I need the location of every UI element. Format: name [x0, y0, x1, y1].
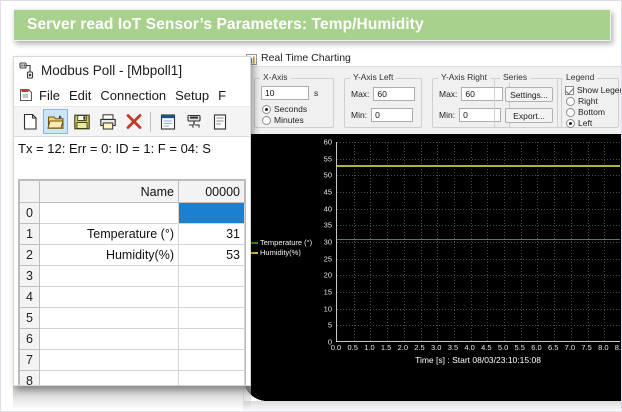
- table-row[interactable]: 8: [20, 371, 245, 386]
- x-axis-tick-label: 2.5: [414, 343, 424, 352]
- charting-window-body: X-Axis 10 s Seconds Minutes: [243, 66, 622, 401]
- y-axis-tick-label: 15: [324, 288, 332, 297]
- y-axis-tick-label: 50: [324, 171, 332, 180]
- chart-plot-box: [336, 142, 620, 342]
- charting-window-titlebar: Real Time Charting: [239, 49, 622, 66]
- table-corner-header: [20, 181, 40, 203]
- radio-indicator-minutes: [262, 116, 271, 125]
- horizontal-gridline: [337, 242, 620, 243]
- y-axis-tick-label: 55: [324, 154, 332, 163]
- slide-canvas: Server read IoT Sensor’s Parameters: Tem…: [0, 0, 622, 412]
- vertical-gridline: [370, 142, 371, 341]
- table-row[interactable]: 4: [20, 287, 245, 308]
- modbus-app-icon: [19, 61, 37, 79]
- x-axis-tick-label: 1.5: [381, 343, 391, 352]
- y-left-min-input[interactable]: 0: [371, 108, 413, 122]
- chart-y-axis-ticks: 051015202530354045505560: [310, 142, 332, 342]
- x-axis-tick-label: 8.0: [598, 343, 608, 352]
- x-axis-tick-label: 4.0: [464, 343, 474, 352]
- document-icon: [18, 87, 34, 103]
- legend-label-humidity: Humidity(%): [260, 248, 301, 257]
- radio-indicator-bottom: [566, 108, 575, 117]
- row-value[interactable]: [179, 308, 245, 329]
- legend-left-label: Left: [578, 118, 592, 128]
- row-name[interactable]: [40, 350, 179, 371]
- y-axis-tick-label: 30: [324, 238, 332, 247]
- series-line-temperature: [337, 239, 620, 240]
- x-axis-tick-label: 8.5: [615, 343, 622, 352]
- chart-x-axis-title: Time [s] : Start 08/03/23:10:15:08: [336, 355, 620, 365]
- row-index: 7: [20, 350, 40, 371]
- x-axis-tick-label: 2.0: [398, 343, 408, 352]
- save-disk-icon[interactable]: [69, 109, 94, 134]
- legend-right-label: Right: [578, 96, 598, 106]
- x-axis-tick-label: 0.5: [347, 343, 357, 352]
- vertical-gridline: [604, 142, 605, 341]
- menu-item-file[interactable]: File: [39, 88, 60, 103]
- row-index: 2: [20, 245, 40, 266]
- y-axis-tick-label: 5: [328, 321, 332, 330]
- y-left-max-input[interactable]: 60: [373, 87, 415, 101]
- vertical-gridline: [404, 142, 405, 341]
- charting-controls-strip: X-Axis 10 s Seconds Minutes: [244, 67, 622, 134]
- series-export-button[interactable]: Export...: [505, 108, 553, 123]
- table-row[interactable]: 0: [20, 203, 245, 224]
- vertical-gridline: [471, 142, 472, 341]
- row-value[interactable]: [179, 350, 245, 371]
- row-index: 4: [20, 287, 40, 308]
- checkbox-indicator-show-legend: [565, 86, 574, 95]
- read-write-icon[interactable]: [207, 109, 232, 134]
- x-axis-tick-label: 5.0: [498, 343, 508, 352]
- table-row[interactable]: 7: [20, 350, 245, 371]
- x-axis-unit-label: s: [314, 88, 318, 98]
- horizontal-gridline: [337, 159, 620, 160]
- row-value[interactable]: [179, 266, 245, 287]
- row-name[interactable]: [40, 203, 179, 224]
- chart-axes: 051015202530354045505560 0.00.51.01.52.0…: [310, 142, 620, 364]
- x-axis-tick-label: 0.0: [331, 343, 341, 352]
- y-axis-right-group-label: Y-Axis Right: [438, 72, 490, 82]
- legend-position-right-radio[interactable]: Right: [566, 96, 598, 106]
- print-icon[interactable]: [95, 109, 120, 134]
- horizontal-gridline: [337, 142, 620, 143]
- x-axis-tick-label: 7.0: [565, 343, 575, 352]
- horizontal-gridline: [337, 209, 620, 210]
- modbus-status-line: Tx = 12: Err = 0: ID = 1: F = 04: S: [14, 137, 250, 161]
- show-legend-checkbox[interactable]: Show Legend: [565, 85, 622, 95]
- y-axis-tick-label: 25: [324, 254, 332, 263]
- x-axis-tick-label: 5.5: [515, 343, 525, 352]
- y-axis-tick-label: 40: [324, 204, 332, 213]
- x-axis-seconds-label: Seconds: [274, 104, 307, 114]
- row-index: 0: [20, 203, 40, 224]
- horizontal-gridline: [337, 325, 620, 326]
- y-axis-tick-label: 45: [324, 188, 332, 197]
- y-left-min-label: Min:: [351, 110, 367, 120]
- modbus-data-grid[interactable]: Name 00000 0 1 Temperature (°) 31: [18, 179, 246, 385]
- slide-title-text: Server read IoT Sensor’s Parameters: Tem…: [14, 16, 424, 34]
- toolbar-separator: [150, 112, 151, 132]
- menu-item-edit[interactable]: Edit: [69, 88, 91, 103]
- open-folder-icon[interactable]: [43, 109, 68, 134]
- legend-entry-humidity: Humidity(%): [248, 248, 310, 257]
- vertical-gridline: [521, 142, 522, 341]
- row-index: 3: [20, 266, 40, 287]
- table-row[interactable]: 3: [20, 266, 245, 287]
- y-axis-left-group: Y-Axis Left Max: 60 Min: 0: [344, 78, 422, 128]
- legend-group: Legend Show Legend Right Bottom: [557, 78, 619, 128]
- horizontal-gridline: [337, 292, 620, 293]
- vertical-gridline: [554, 142, 555, 341]
- modbus-menubar: File Edit Connection Setup F: [14, 84, 250, 107]
- table-header-name: Name: [40, 181, 179, 203]
- row-name[interactable]: [40, 266, 179, 287]
- x-axis-tick-label: 1.0: [364, 343, 374, 352]
- x-axis-group: X-Axis 10 s Seconds Minutes: [254, 78, 334, 128]
- y-axis-tick-label: 35: [324, 221, 332, 230]
- slide-title-banner: Server read IoT Sensor’s Parameters: Tem…: [13, 9, 611, 41]
- menu-item-functions[interactable]: F: [218, 88, 226, 103]
- legend-position-left-radio[interactable]: Left: [566, 118, 592, 128]
- vertical-gridline: [387, 142, 388, 341]
- x-axis-minutes-radio[interactable]: Minutes: [262, 115, 304, 125]
- register-table: Name 00000 0 1 Temperature (°) 31: [19, 180, 245, 385]
- x-axis-duration-input[interactable]: 10: [261, 86, 309, 100]
- horizontal-gridline: [337, 225, 620, 226]
- horizontal-gridline: [337, 259, 620, 260]
- x-axis-seconds-radio[interactable]: Seconds: [262, 104, 307, 114]
- row-value-selected[interactable]: [179, 203, 245, 224]
- chart-x-axis-ticks: 0.00.51.01.52.02.53.03.54.04.55.05.56.06…: [336, 343, 622, 355]
- row-name[interactable]: [40, 371, 179, 386]
- row-name[interactable]: [40, 308, 179, 329]
- series-group: Series Settings... Export...: [494, 78, 562, 128]
- series-group-label: Series: [500, 72, 530, 82]
- radio-indicator-right: [566, 97, 575, 106]
- vertical-gridline: [504, 142, 505, 341]
- table-header-address: 00000: [179, 181, 245, 203]
- horizontal-gridline: [337, 175, 620, 176]
- horizontal-gridline: [337, 275, 620, 276]
- vertical-gridline: [537, 142, 538, 341]
- y-axis-tick-label: 60: [324, 138, 332, 147]
- new-file-icon[interactable]: [17, 109, 42, 134]
- vertical-gridline: [454, 142, 455, 341]
- row-name-humidity[interactable]: Humidity(%): [40, 245, 179, 266]
- vertical-gridline: [487, 142, 488, 341]
- menu-item-setup[interactable]: Setup: [175, 88, 209, 103]
- series-line-humidity: [337, 165, 620, 166]
- vertical-gridline: [421, 142, 422, 341]
- horizontal-gridline: [337, 192, 620, 193]
- row-index: 5: [20, 308, 40, 329]
- vertical-gridline: [437, 142, 438, 341]
- modbus-poll-window: Modbus Poll - [Mbpoll1] File Edit Connec…: [13, 56, 251, 386]
- row-index: 8: [20, 371, 40, 386]
- connect-icon[interactable]: [181, 109, 206, 134]
- modbus-titlebar: Modbus Poll - [Mbpoll1]: [14, 57, 250, 84]
- vertical-gridline: [354, 142, 355, 341]
- vertical-gridline: [571, 142, 572, 341]
- table-body: 0 1 Temperature (°) 31 2 Humidity(%) 53: [20, 203, 245, 386]
- legend-group-label: Legend: [563, 72, 597, 82]
- y-axis-left-group-label: Y-Axis Left: [350, 72, 396, 82]
- x-axis-tick-label: 3.0: [431, 343, 441, 352]
- modbus-window-reflection: [13, 386, 251, 410]
- row-name[interactable]: [40, 287, 179, 308]
- row-value-temperature[interactable]: 31: [179, 224, 245, 245]
- x-axis-minutes-label: Minutes: [274, 115, 304, 125]
- table-row[interactable]: 1 Temperature (°) 31: [20, 224, 245, 245]
- radio-indicator-left: [566, 119, 575, 128]
- charting-window-title: Real Time Charting: [261, 52, 351, 64]
- delete-x-icon[interactable]: [121, 109, 146, 134]
- x-axis-tick-label: 3.5: [448, 343, 458, 352]
- row-index: 6: [20, 329, 40, 350]
- y-right-min-label: Min:: [439, 110, 455, 120]
- table-row[interactable]: 5: [20, 308, 245, 329]
- modbus-toolbar: [14, 107, 250, 137]
- radio-indicator-seconds: [262, 105, 271, 114]
- x-axis-group-label: X-Axis: [260, 72, 291, 82]
- row-value[interactable]: [179, 371, 245, 386]
- row-index: 1: [20, 224, 40, 245]
- x-axis-tick-label: 4.5: [481, 343, 491, 352]
- menu-item-connection[interactable]: Connection: [100, 88, 166, 103]
- x-axis-tick-label: 7.5: [581, 343, 591, 352]
- series-settings-button[interactable]: Settings...: [505, 87, 553, 102]
- table-header-row: Name 00000: [20, 181, 245, 203]
- y-axis-tick-label: 20: [324, 271, 332, 280]
- x-axis-tick-label: 6.5: [548, 343, 558, 352]
- table-row[interactable]: 6: [20, 329, 245, 350]
- modbus-window-title: Modbus Poll - [Mbpoll1]: [41, 63, 182, 78]
- x-axis-tick-label: 6.0: [531, 343, 541, 352]
- legend-position-bottom-radio[interactable]: Bottom: [566, 107, 605, 117]
- legend-entry-temperature: Temperature (°): [248, 238, 310, 247]
- row-value[interactable]: [179, 287, 245, 308]
- chart-legend: Temperature (°) Humidity(%): [248, 238, 310, 258]
- horizontal-gridline: [337, 309, 620, 310]
- y-axis-tick-label: 10: [324, 304, 332, 313]
- y-left-max-label: Max:: [351, 89, 369, 99]
- legend-label-temperature: Temperature (°): [260, 238, 312, 247]
- y-right-max-label: Max:: [439, 89, 457, 99]
- row-value[interactable]: [179, 329, 245, 350]
- real-time-charting-window: Real Time Charting X-Axis 10 s Seconds: [239, 49, 622, 401]
- row-name[interactable]: [40, 329, 179, 350]
- show-legend-label: Show Legend: [577, 85, 622, 95]
- vertical-gridline: [588, 142, 589, 341]
- legend-bottom-label: Bottom: [578, 107, 605, 117]
- chart-plot-area[interactable]: Temperature (°) Humidity(%) 051015202530…: [244, 134, 622, 401]
- table-row[interactable]: 2 Humidity(%) 53: [20, 245, 245, 266]
- row-value-humidity[interactable]: 53: [179, 245, 245, 266]
- row-name-temperature[interactable]: Temperature (°): [40, 224, 179, 245]
- properties-icon[interactable]: [155, 109, 180, 134]
